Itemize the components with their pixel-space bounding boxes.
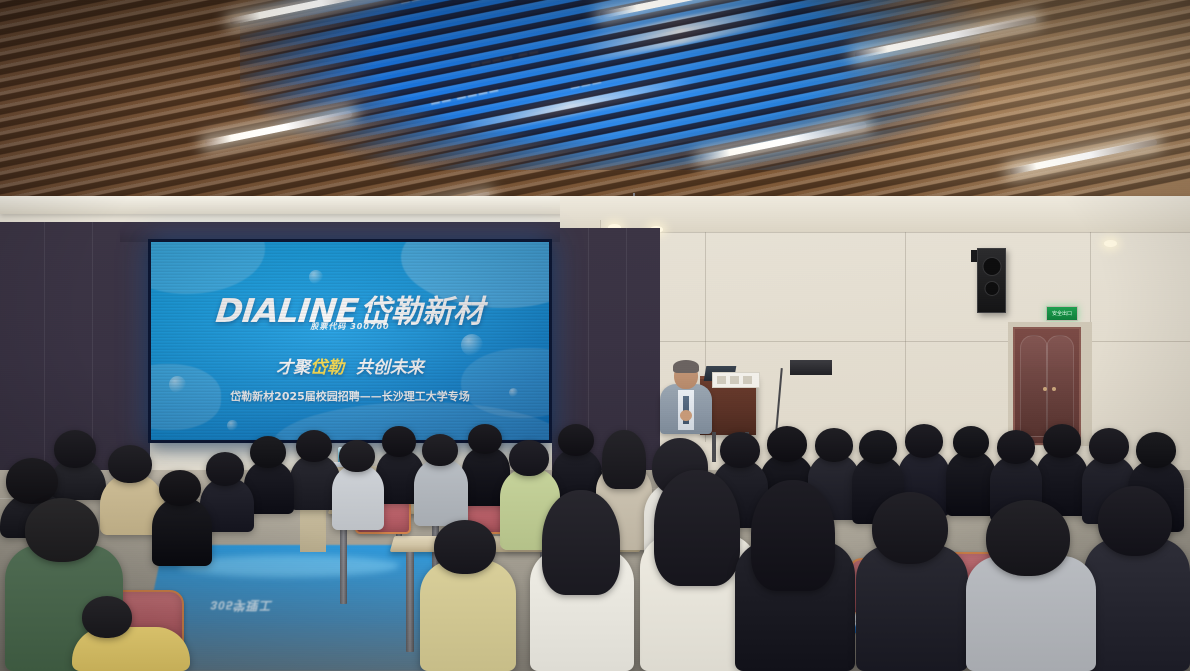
audience-member: [530, 490, 634, 671]
audience-member-head: [468, 424, 502, 454]
audience-member: [414, 434, 468, 526]
audience-member-head: [108, 445, 152, 483]
audience-member: [420, 520, 516, 671]
audience-member-head: [1136, 432, 1176, 468]
audience-member: [856, 492, 968, 671]
audience: [0, 0, 1190, 671]
audience-member: [966, 500, 1096, 671]
audience-member-head: [382, 426, 416, 457]
audience-member-head: [422, 434, 458, 466]
audience-member-torso: [420, 560, 516, 671]
audience-member: [1084, 486, 1190, 671]
audience-member: [332, 440, 384, 530]
audience-member-head: [509, 440, 549, 476]
audience-member-head: [250, 436, 286, 468]
audience-member-torso: [1084, 538, 1190, 671]
audience-member-head: [558, 424, 594, 456]
audience-member: [735, 480, 855, 671]
audience-member-head: [815, 428, 853, 462]
audience-member-head: [654, 470, 740, 586]
audience-member-head: [25, 498, 99, 562]
audience-member-head: [1098, 486, 1172, 556]
audience-member-head: [159, 470, 201, 506]
audience-member: [152, 470, 212, 566]
audience-member-head: [859, 430, 897, 464]
audience-member-head: [296, 430, 332, 462]
audience-member-head: [1089, 428, 1129, 464]
audience-member-head: [720, 432, 760, 468]
audience-member-head: [751, 480, 835, 591]
audience-member-head: [1043, 424, 1081, 458]
audience-member: [72, 596, 190, 671]
audience-member-head: [434, 520, 496, 574]
audience-member-head: [542, 490, 620, 595]
audience-member-head: [82, 596, 132, 638]
audience-member-head: [872, 492, 948, 564]
audience-member-torso: [332, 464, 384, 530]
audience-member-torso: [152, 497, 212, 566]
audience-member-head: [953, 426, 989, 458]
audience-member-head: [986, 500, 1070, 576]
audience-member-head: [339, 440, 375, 472]
audience-member-torso: [414, 458, 468, 526]
audience-member-head: [767, 426, 807, 462]
lecture-hall-photo: ▬▬ ▬▬▬ ▬▬▬▬ ▬▬ ▬▬ ▬▬▬▬ ▬▬▬: [0, 0, 1190, 671]
audience-member-head: [997, 430, 1035, 464]
audience-member-head: [905, 424, 943, 458]
